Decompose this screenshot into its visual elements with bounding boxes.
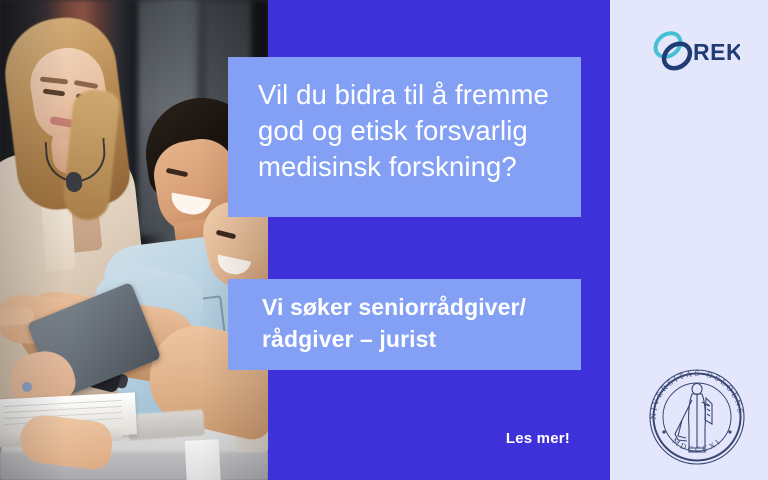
uio-seal-svg: UNIVERSITAS OSLOENSIS MDCCCXI [642, 362, 752, 472]
read-more-link[interactable]: Les mer! [380, 430, 570, 447]
rek-wordmark: REK [693, 39, 740, 65]
rek-logo-svg: REK [650, 28, 740, 74]
uio-seal: UNIVERSITAS OSLOENSIS MDCCCXI [642, 362, 752, 472]
rek-logo[interactable]: REK [650, 28, 740, 74]
headline-text: Vil du bidra til å fremme god og etisk f… [258, 77, 568, 185]
seal-top-text: UNIVERSITAS OSLOENSIS [642, 362, 745, 419]
recruitment-banner: Vil du bidra til å fremme god og etisk f… [0, 0, 768, 480]
job-title-text: Vi søker seniorrådgiver/ rådgiver – juri… [262, 291, 578, 355]
interlocking-ovals-icon [651, 28, 695, 73]
